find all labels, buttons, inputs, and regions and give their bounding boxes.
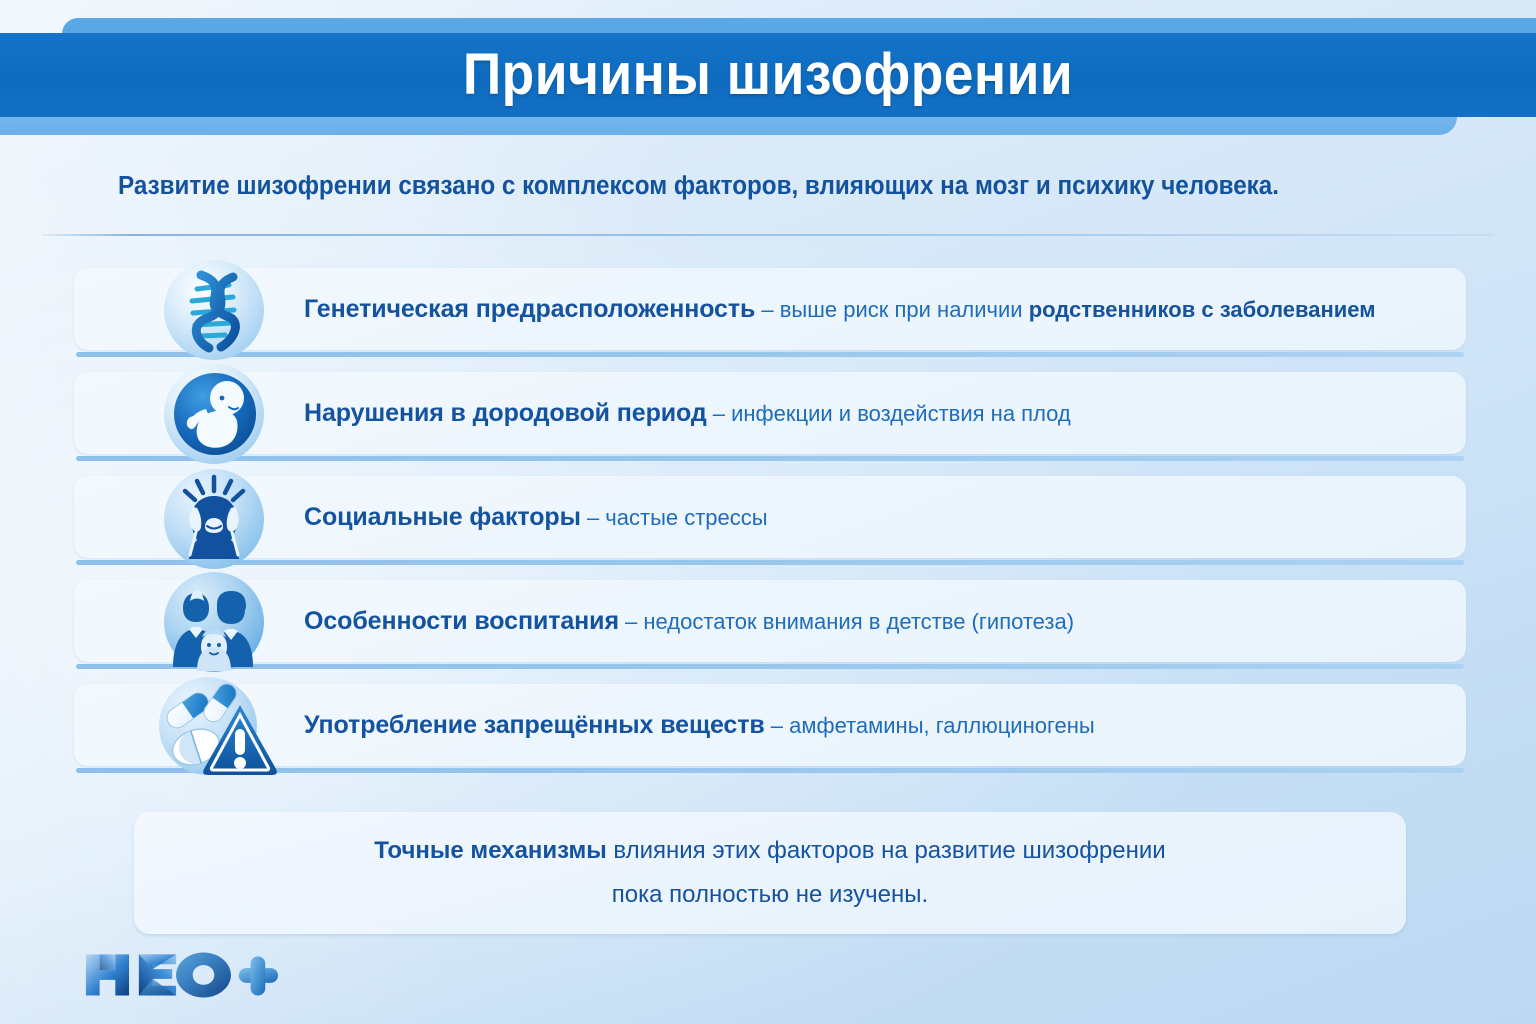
card-underline	[76, 768, 1464, 773]
card-title: Особенности воспитания	[304, 607, 619, 635]
stressed-person-icon	[159, 463, 269, 573]
card-dash: –	[619, 609, 643, 634]
list-item[interactable]: Нарушения в дородовой период – инфекции …	[74, 372, 1466, 476]
card-text: Нарушения в дородовой период – инфекции …	[304, 372, 1071, 454]
card-desc: выше риск при наличии	[780, 297, 1029, 322]
pills-warning-icon	[152, 671, 278, 781]
note-line-2: пока полностью не изучены.	[612, 873, 928, 917]
card-text: Социальные факторы – частые стрессы	[304, 476, 768, 558]
list-item[interactable]: Социальные факторы – частые стрессы	[74, 476, 1466, 580]
note-bold: Точные механизмы	[374, 837, 606, 864]
card-dash: –	[707, 401, 731, 426]
card-desc: недостаток внимания в детстве (гипотеза)	[643, 609, 1074, 634]
conclusion-note: Точные механизмы влияния этих факторов н…	[134, 812, 1406, 934]
card-text: Особенности воспитания – недостаток вним…	[304, 580, 1074, 662]
card-title: Социальные факторы	[304, 503, 581, 531]
card-underline	[76, 560, 1464, 565]
card-text: Употребление запрещённых веществ – амфет…	[304, 684, 1095, 766]
intro-divider	[42, 234, 1494, 236]
family-icon	[159, 567, 269, 677]
neo-plus-logo-icon	[82, 948, 278, 1000]
header-banner: Причины шизофрении	[0, 0, 1536, 150]
card-underline	[76, 664, 1464, 669]
intro-text: Развитие шизофрении связано с комплексом…	[118, 172, 1372, 201]
note-line-1: Точные механизмы влияния этих факторов н…	[374, 829, 1165, 873]
dna-icon	[159, 255, 269, 365]
card-underline	[76, 456, 1464, 461]
header-bottom-strip	[0, 117, 1457, 135]
card-dash: –	[581, 505, 605, 530]
card-panel	[74, 476, 1466, 558]
brand-logo	[82, 946, 278, 1002]
card-title: Нарушения в дородовой период	[304, 399, 707, 427]
list-item[interactable]: Особенности воспитания – недостаток вним…	[74, 580, 1466, 684]
card-desc-bold: родственников с заболеванием	[1029, 297, 1376, 322]
infographic-slide: Причины шизофрении Развитие шизофрении с…	[0, 0, 1536, 1024]
card-title: Генетическая предрасположенность	[304, 295, 755, 323]
card-text: Генетическая предрасположенность – выше …	[304, 268, 1376, 350]
fetus-icon	[159, 359, 269, 469]
card-dash: –	[755, 297, 779, 322]
note-rest: влияния этих факторов на развитие шизофр…	[607, 837, 1166, 864]
cause-list: Генетическая предрасположенность – выше …	[74, 268, 1466, 788]
card-desc: частые стрессы	[605, 505, 767, 530]
card-desc: инфекции и воздействия на плод	[731, 401, 1071, 426]
card-dash: –	[765, 713, 789, 738]
list-item[interactable]: Употребление запрещённых веществ – амфет…	[74, 684, 1466, 788]
card-underline	[76, 352, 1464, 357]
list-item[interactable]: Генетическая предрасположенность – выше …	[74, 268, 1466, 372]
page-title: Причины шизофрении	[61, 33, 1474, 117]
card-desc: амфетамины, галлюциногены	[789, 713, 1095, 738]
card-title: Употребление запрещённых веществ	[304, 711, 765, 739]
